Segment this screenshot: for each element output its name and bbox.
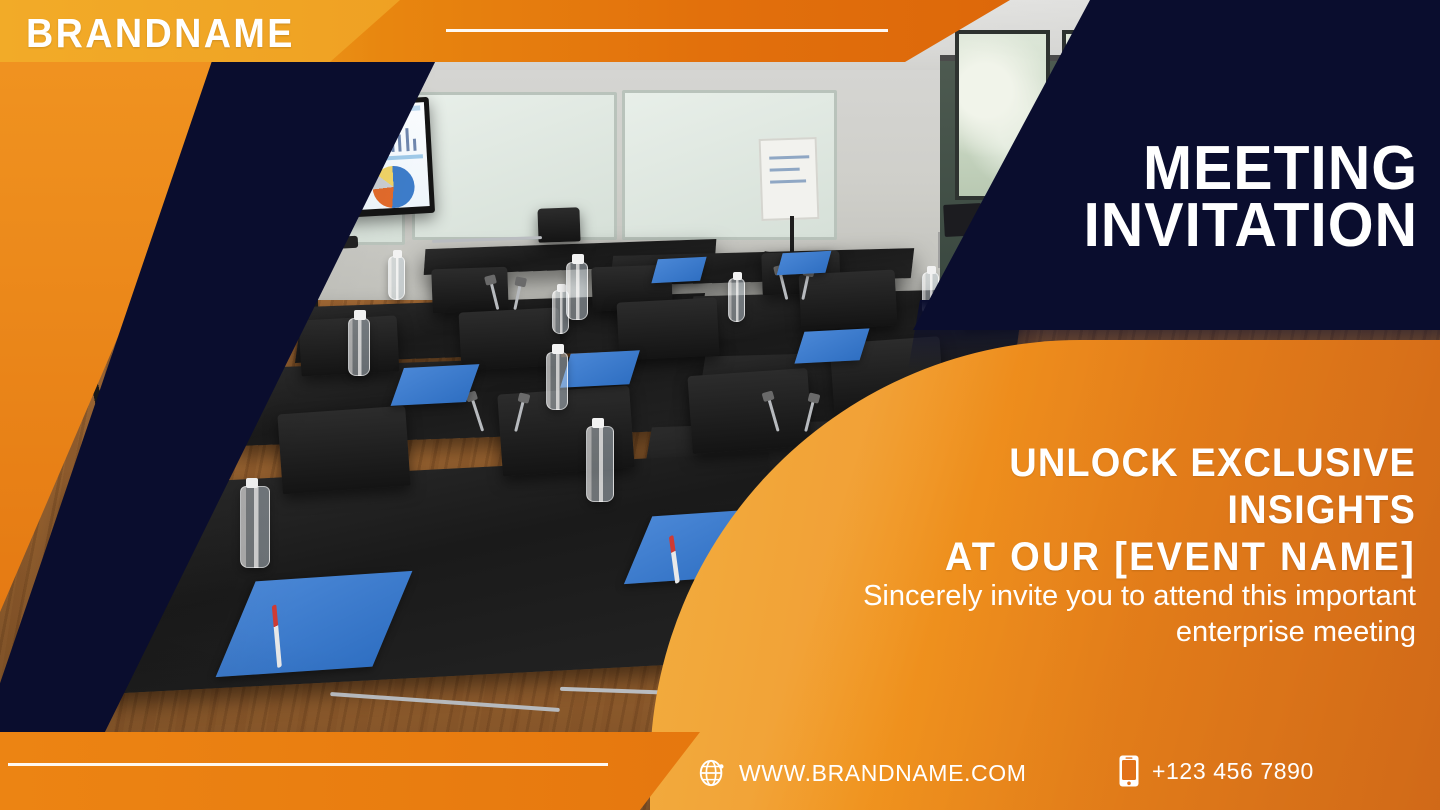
page-title: MEETING INVITATION	[898, 140, 1418, 254]
website-contact[interactable]: WWW.BRANDNAME.COM	[697, 758, 1026, 788]
top-divider-line	[446, 29, 888, 32]
phone-text: +123 456 7890	[1152, 758, 1314, 785]
brand-logo-text[interactable]: BRANDNAME	[26, 10, 295, 57]
headline-line-2: AT OUR [EVENT NAME]	[846, 534, 1416, 581]
bottom-divider-line	[8, 763, 608, 766]
title-line-1: MEETING	[924, 140, 1418, 197]
subtext-line-1: Sincerely invite you to attend this impo…	[796, 578, 1416, 614]
website-text: WWW.BRANDNAME.COM	[739, 760, 1026, 787]
invitation-subtext: Sincerely invite you to attend this impo…	[796, 578, 1416, 651]
subtext-line-2: enterprise meeting	[796, 614, 1416, 650]
title-line-2: INVITATION	[924, 197, 1418, 254]
meeting-invitation-poster: MEETING INVITATION UNLOCK EXCLUSIVE INSI…	[0, 0, 1440, 810]
phone-contact[interactable]: +123 456 7890	[1118, 754, 1314, 788]
mobile-phone-icon	[1118, 754, 1140, 788]
globe-icon	[697, 758, 727, 788]
headline: UNLOCK EXCLUSIVE INSIGHTS AT OUR [EVENT …	[846, 440, 1416, 582]
headline-line-1: UNLOCK EXCLUSIVE INSIGHTS	[846, 440, 1416, 534]
